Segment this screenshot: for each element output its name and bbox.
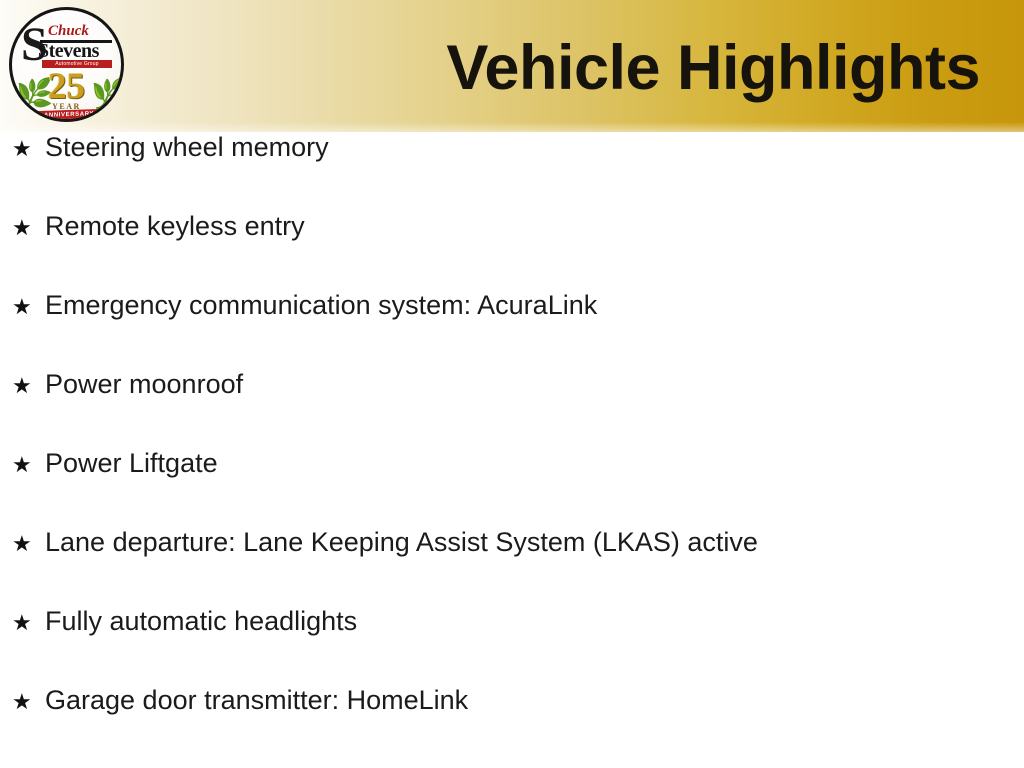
logo-artwork: 🌿 🌿 S Chuck Stevens Automotive Group 25 …: [12, 10, 121, 119]
star-bullet-icon: ★: [12, 213, 45, 243]
list-item: ★ Power moonroof: [0, 369, 1024, 448]
list-item-label: Remote keyless entry: [45, 211, 305, 241]
star-bullet-icon: ★: [12, 687, 45, 717]
slide-header-band: 🌿 🌿 S Chuck Stevens Automotive Group 25 …: [0, 0, 1024, 132]
list-item-label: Power Liftgate: [45, 448, 218, 478]
header-sheen: [0, 122, 1024, 132]
list-item-label: Garage door transmitter: HomeLink: [45, 685, 468, 715]
star-bullet-icon: ★: [12, 292, 45, 322]
logo-anniversary-number: 25: [12, 68, 121, 105]
logo-last-name: Stevens: [38, 41, 99, 61]
list-item: ★ Emergency communication system: AcuraL…: [0, 290, 1024, 369]
logo-anniversary-banner: ANNIVERSARY: [35, 109, 103, 121]
list-item: ★ Lane departure: Lane Keeping Assist Sy…: [0, 527, 1024, 606]
star-bullet-icon: ★: [12, 371, 45, 401]
list-item: ★ Garage door transmitter: HomeLink: [0, 685, 1024, 764]
list-item: ★ Remote keyless entry: [0, 211, 1024, 290]
list-item: ★ Steering wheel memory: [0, 132, 1024, 211]
vehicle-highlights-list: ★ Steering wheel memory ★ Remote keyless…: [0, 132, 1024, 764]
dealership-logo: 🌿 🌿 S Chuck Stevens Automotive Group 25 …: [9, 7, 124, 122]
page-title: Vehicle Highlights: [446, 24, 980, 112]
logo-first-name: Chuck: [48, 24, 89, 39]
list-item-label: Fully automatic headlights: [45, 606, 357, 636]
list-item: ★ Power Liftgate: [0, 448, 1024, 527]
star-bullet-icon: ★: [12, 608, 45, 638]
list-item: ★ Fully automatic headlights: [0, 606, 1024, 685]
list-item-label: Lane departure: Lane Keeping Assist Syst…: [45, 527, 758, 557]
list-item-label: Steering wheel memory: [45, 132, 329, 162]
list-item-label: Power moonroof: [45, 369, 243, 399]
star-bullet-icon: ★: [12, 134, 45, 164]
star-bullet-icon: ★: [12, 450, 45, 480]
list-item-label: Emergency communication system: AcuraLin…: [45, 290, 597, 320]
star-bullet-icon: ★: [12, 529, 45, 559]
